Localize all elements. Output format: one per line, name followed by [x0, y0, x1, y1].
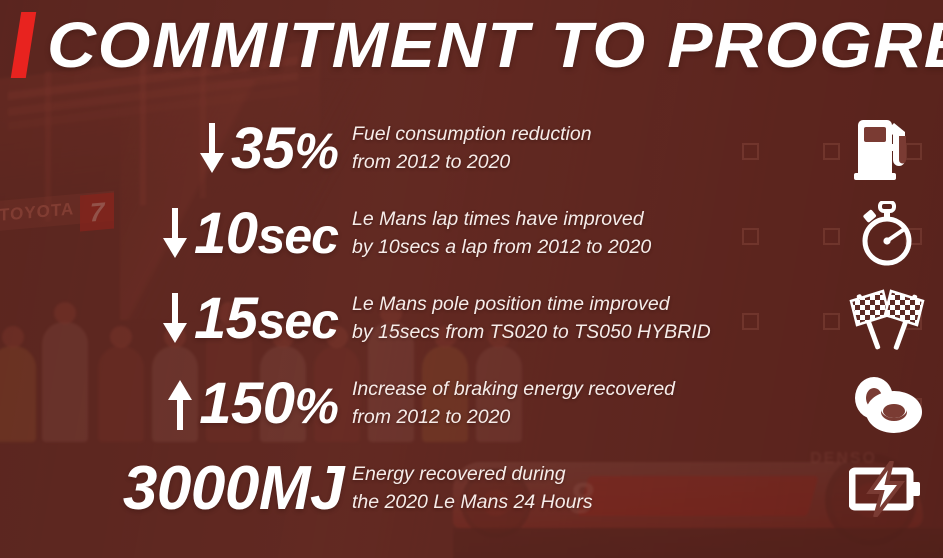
stat-figure: 15sec	[0, 290, 352, 348]
stat-description-line1: Fuel consumption reduction	[352, 123, 592, 145]
stat-value: 3000MJ	[123, 458, 344, 520]
stat-figure: 35%	[0, 120, 352, 178]
arrow-down-icon	[162, 208, 188, 260]
stat-description-line1: Energy recovered during	[352, 463, 566, 485]
stat-description: Le Mans pole position time improved by 1…	[352, 291, 719, 346]
stat-number: 10	[194, 201, 258, 266]
stat-row: 15sec Le Mans pole position time improve…	[0, 276, 943, 361]
stat-unit: sec	[258, 208, 338, 264]
stat-number: 3000	[123, 454, 259, 523]
stat-icon	[831, 117, 943, 181]
title-accent-bar	[11, 12, 36, 78]
infographic-poster: TOYOTA 7 8 DENSO	[0, 0, 943, 558]
stat-figure: 10sec	[0, 205, 352, 263]
battery-charge-icon	[849, 461, 925, 517]
stat-unit: %	[295, 378, 338, 434]
stat-figure: 150%	[0, 375, 352, 433]
stat-icon	[831, 461, 943, 517]
stat-description: Increase of braking energy recovered fro…	[352, 376, 739, 431]
arrow-down-icon	[199, 123, 225, 175]
stat-description: Fuel consumption reduction from 2012 to …	[352, 121, 797, 176]
stat-description-line2: by 10secs a lap from 2012 to 2020	[352, 234, 737, 262]
stat-row: 3000MJ Energy recovered during the 2020 …	[0, 446, 943, 531]
stat-value: 150%	[199, 375, 338, 433]
stat-unit: MJ	[259, 454, 344, 523]
stat-description: Energy recovered during the 2020 Le Mans…	[352, 461, 805, 516]
stat-unit: %	[295, 123, 338, 179]
arrow-up-icon	[167, 378, 193, 430]
stat-number: 150	[199, 371, 294, 436]
stat-description-line2: from 2012 to 2020	[352, 404, 739, 432]
stat-description-line2: by 15secs from TS020 to TS050 HYBRID	[352, 319, 719, 347]
stats-list: 35% Fuel consumption reduction from 2012…	[0, 106, 943, 531]
stat-description-line1: Le Mans lap times have improved	[352, 208, 644, 230]
stat-number: 35	[231, 116, 295, 181]
stat-value: 35%	[231, 120, 338, 178]
stat-value: 15sec	[194, 290, 338, 348]
poster-content: COMMITMENT TO PROGRESS 35% Fuel consumpt…	[0, 0, 943, 558]
stat-description-line1: Le Mans pole position time improved	[352, 293, 670, 315]
stat-row: 35% Fuel consumption reduction from 2012…	[0, 106, 943, 191]
stat-description-line2: from 2012 to 2020	[352, 149, 797, 177]
stat-number: 15	[194, 286, 258, 351]
page-title: COMMITMENT TO PROGRESS	[16, 12, 943, 78]
stat-row: 150% Increase of braking energy recovere…	[0, 361, 943, 446]
stat-description-line2: the 2020 Le Mans 24 Hours	[352, 489, 805, 517]
stat-row: 10sec Le Mans lap times have improved by…	[0, 191, 943, 276]
stat-unit: sec	[258, 293, 338, 349]
tyre-brake-icon	[847, 372, 927, 436]
stopwatch-icon	[856, 201, 918, 267]
stat-value: 10sec	[194, 205, 338, 263]
page-title-text: COMMITMENT TO PROGRESS	[47, 13, 943, 77]
stat-figure: 3000MJ	[0, 458, 352, 520]
checkered-flags-icon	[845, 285, 929, 353]
stat-icon	[831, 201, 943, 267]
fuel-pump-icon	[854, 117, 920, 181]
stat-icon	[831, 372, 943, 436]
stat-description-line1: Increase of braking energy recovered	[352, 378, 675, 400]
arrow-down-icon	[162, 293, 188, 345]
stat-description: Le Mans lap times have improved by 10sec…	[352, 206, 737, 261]
stat-icon	[831, 285, 943, 353]
